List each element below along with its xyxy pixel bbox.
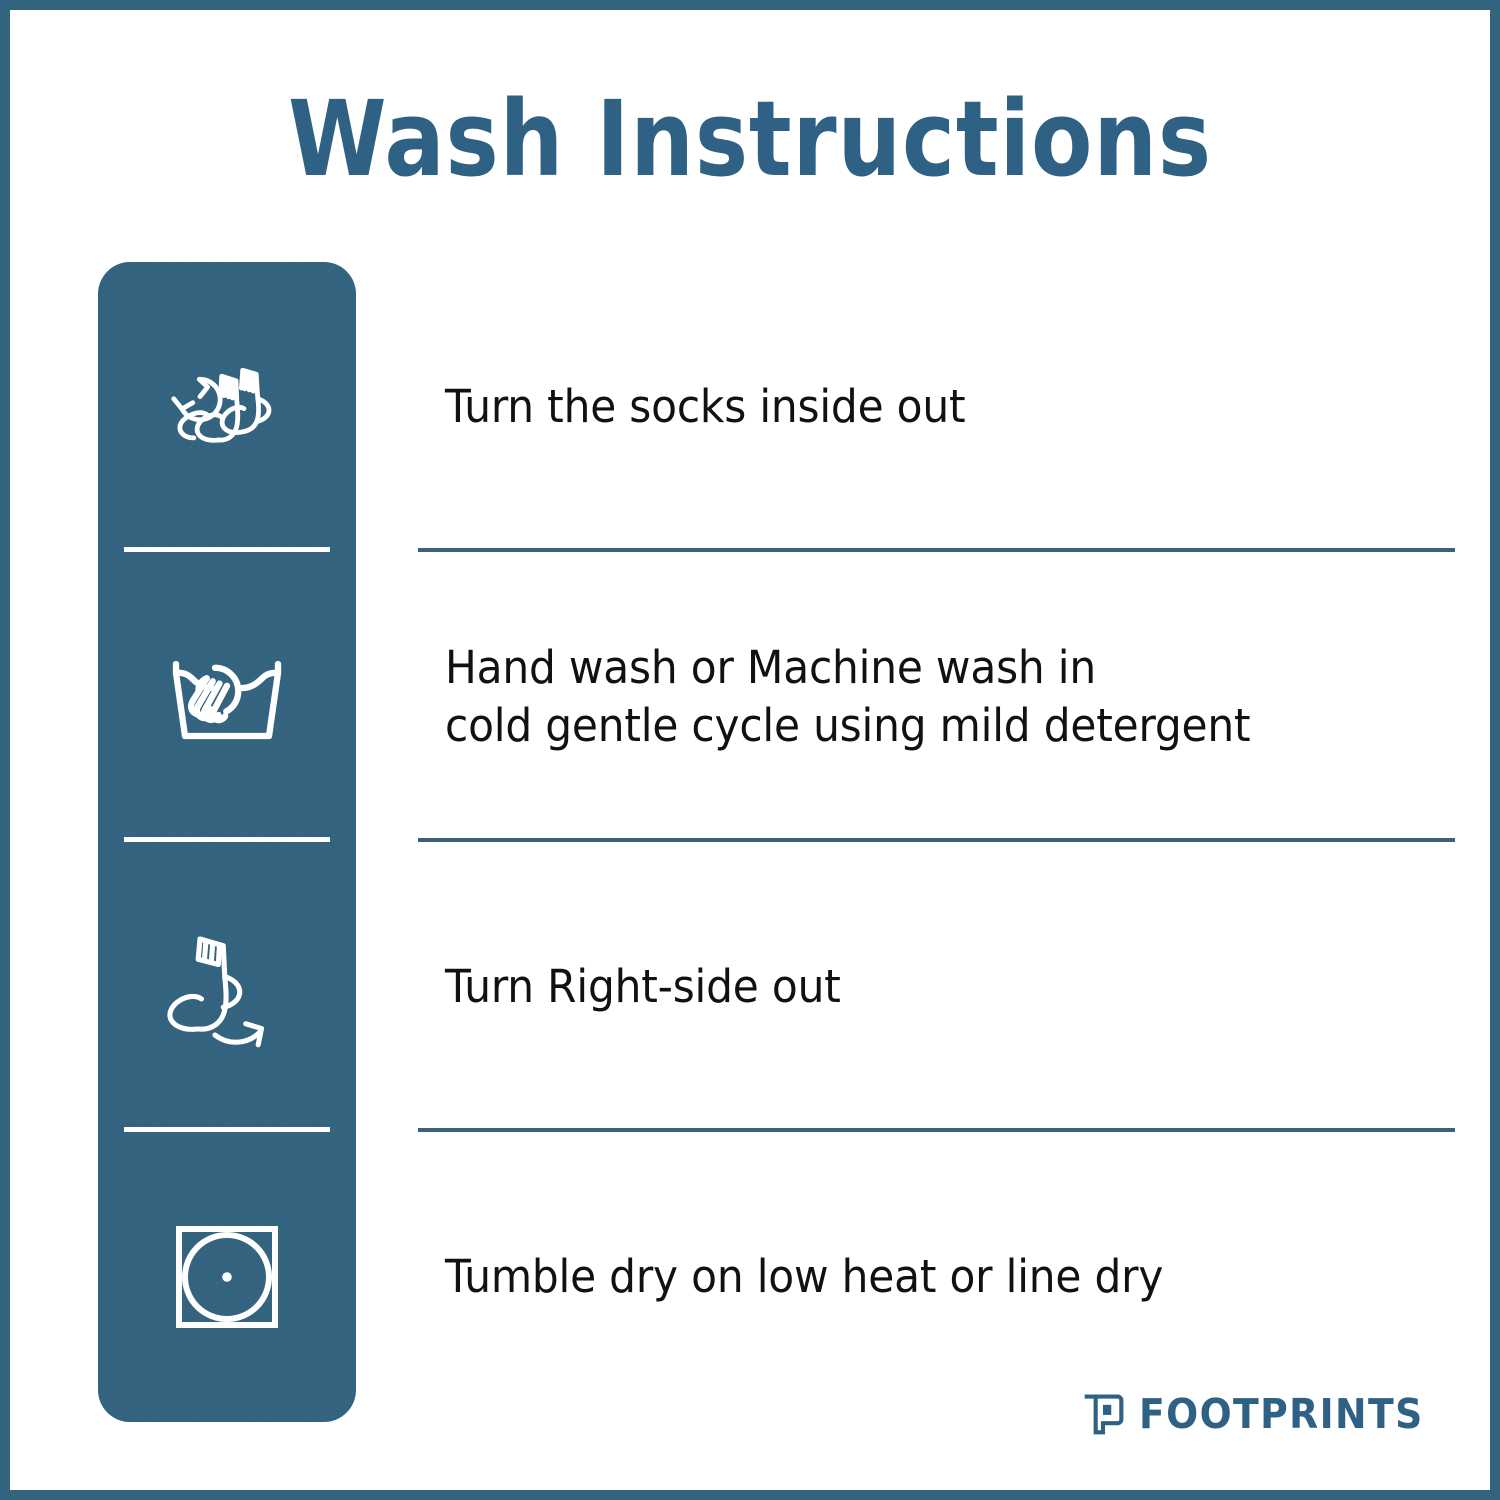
footer-logo: FOOTPRINTS bbox=[1081, 1390, 1448, 1438]
instruction-row-4: Tumble dry on low heat or line dry bbox=[408, 1132, 1455, 1422]
instruction-text-3: Turn Right-side out bbox=[445, 958, 841, 1016]
instruction-row-1: Turn the socks inside out bbox=[408, 262, 1455, 552]
instruction-text-2: Hand wash or Machine wash in cold gentle… bbox=[445, 639, 1250, 754]
instruction-text-1: Turn the socks inside out bbox=[445, 378, 965, 436]
rail-cell-1 bbox=[98, 262, 356, 552]
rail-cell-2 bbox=[98, 552, 356, 842]
sock-right-side-out-icon bbox=[152, 912, 302, 1062]
tumble-dry-low-icon bbox=[152, 1202, 302, 1352]
brand-name: FOOTPRINTS bbox=[1139, 1390, 1424, 1438]
icon-rail bbox=[98, 262, 356, 1422]
rail-cell-4 bbox=[98, 1132, 356, 1422]
socks-inside-out-icon bbox=[152, 332, 302, 482]
rail-cell-3 bbox=[98, 842, 356, 1132]
instruction-row-3: Turn Right-side out bbox=[408, 842, 1455, 1132]
page-title: Wash Instructions bbox=[114, 82, 1387, 196]
instruction-list: Turn the socks inside out Hand wash or M… bbox=[408, 262, 1455, 1422]
footprints-f-monogram-icon bbox=[1081, 1392, 1125, 1436]
wash-instructions-card: Wash Instructions bbox=[0, 0, 1500, 1500]
instruction-row-2: Hand wash or Machine wash in cold gentle… bbox=[408, 552, 1455, 842]
hand-wash-basin-icon bbox=[152, 622, 302, 772]
instruction-text-4: Tumble dry on low heat or line dry bbox=[445, 1248, 1163, 1306]
